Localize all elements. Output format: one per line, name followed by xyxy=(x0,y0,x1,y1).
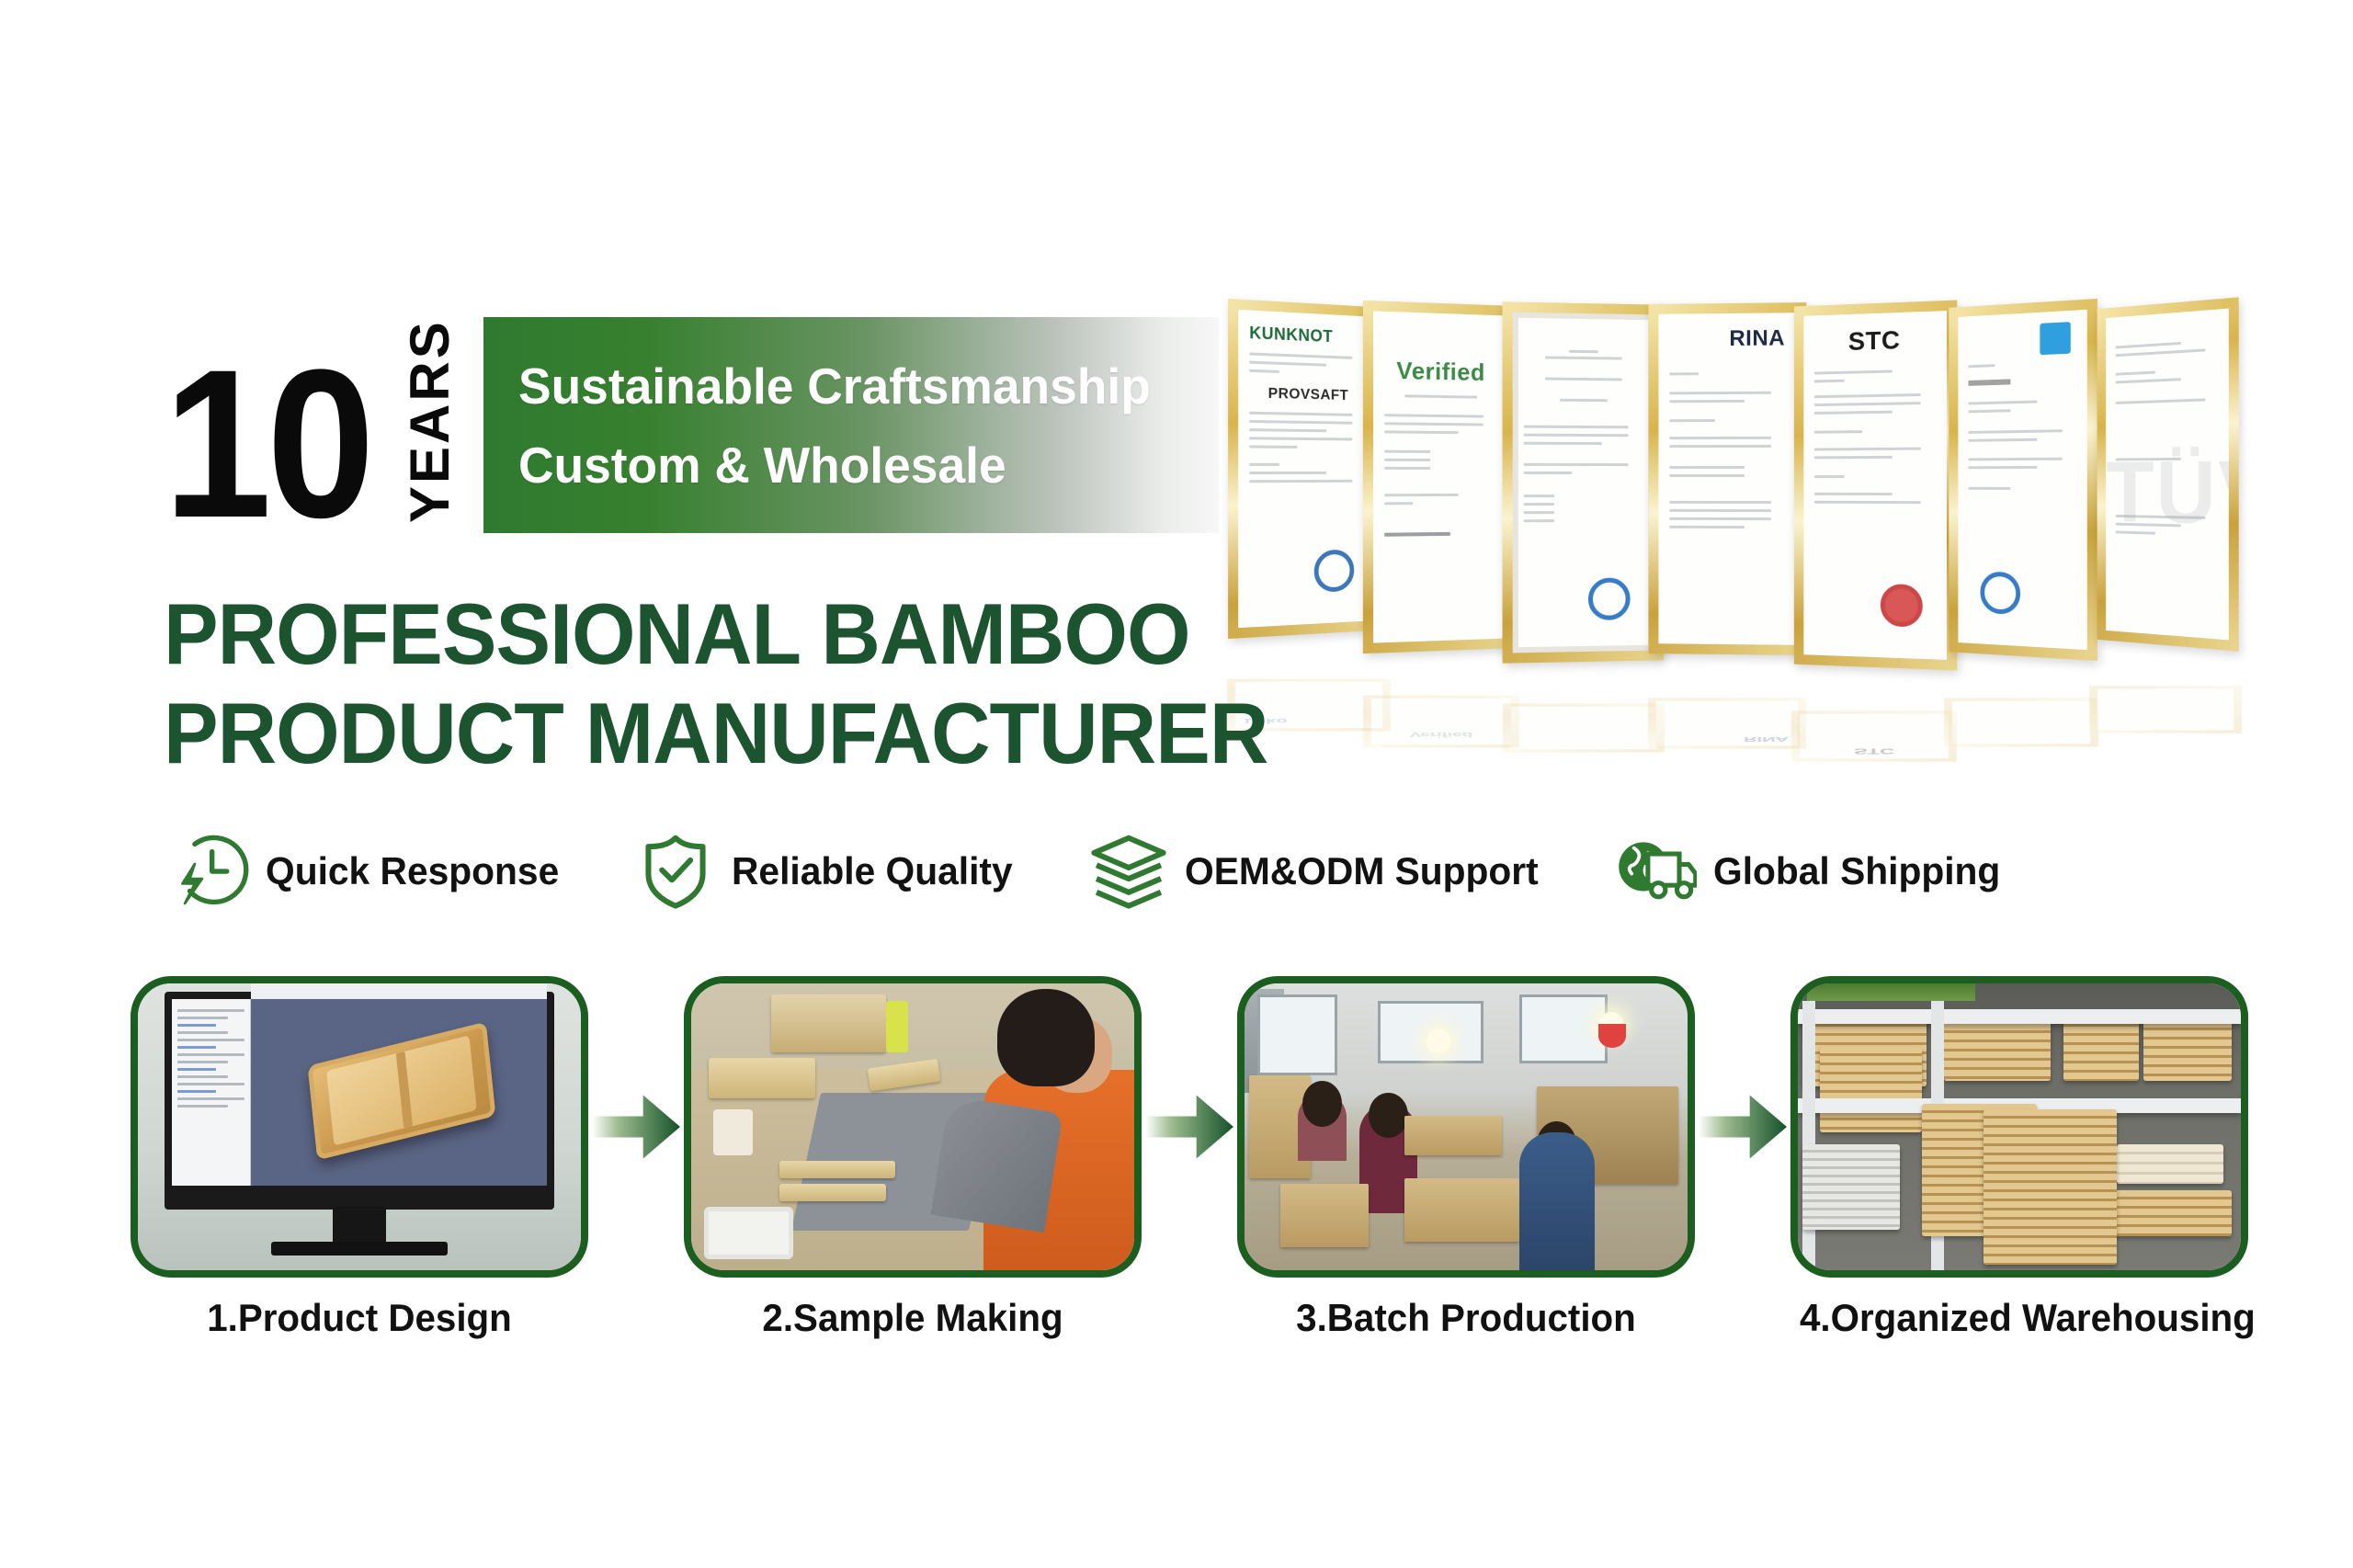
process-arrow-3 xyxy=(1695,976,1790,1278)
certificate-page xyxy=(1958,310,2086,650)
certificate-page: RINA xyxy=(1658,312,1796,645)
reliable-quality-shield-icon xyxy=(636,832,715,911)
sample-making-photo xyxy=(684,976,1142,1278)
process-arrow-2 xyxy=(1142,976,1237,1278)
batch-production-photo xyxy=(1237,976,1695,1278)
process-flow: 1.Product Design xyxy=(131,976,2235,1344)
certificate-page: Verified xyxy=(1373,311,1507,642)
certificate-page: STC xyxy=(1803,311,1947,660)
certificate-gallery: KUNKNOT PROVSAFT Verified xyxy=(1227,303,2261,744)
certificate-reflection-4: RINA xyxy=(1648,698,1806,748)
tagline-line-2: Custom & Wholesale xyxy=(518,426,1198,505)
certificate-6 xyxy=(1949,299,2097,661)
oem-odm-layers-icon xyxy=(1089,832,1168,911)
years-badge: 10 YEARS xyxy=(164,308,458,533)
headline-line-2: PRODUCT MANUFACTURER xyxy=(164,684,1267,783)
tagline-banner: Sustainable Craftsmanship Custom & Whole… xyxy=(483,317,1219,533)
step-caption: 2.Sample Making xyxy=(693,1296,1132,1340)
certificate-seal xyxy=(1314,550,1354,593)
years-number: 10 xyxy=(164,342,369,546)
certificate-watermark: TÜV xyxy=(2106,441,2229,545)
step-caption: 4.Organized Warehousing xyxy=(1800,1296,2239,1340)
headline-line-1: PROFESSIONAL BAMBOO xyxy=(164,585,1267,684)
certificate-7: TÜV xyxy=(2097,297,2239,651)
feature-reliable-quality: Reliable Quality xyxy=(636,832,1021,911)
quick-response-clock-icon xyxy=(170,832,249,911)
feature-global-shipping: Global Shipping xyxy=(1618,832,2009,911)
warehousing-photo xyxy=(1790,976,2248,1278)
certificate-5: STC xyxy=(1794,301,1957,671)
certificate-seal xyxy=(1980,572,2020,615)
years-label: YEARS xyxy=(403,314,458,528)
certificate-logo: KUNKNOT xyxy=(1249,324,1366,348)
certificate-reflection-5: STC xyxy=(1791,710,1957,761)
process-step-2: 2.Sample Making xyxy=(684,976,1142,1340)
process-step-4: 4.Organized Warehousing xyxy=(1790,976,2248,1340)
tagline-line-1: Sustainable Craftsmanship xyxy=(518,347,1198,426)
feature-label: Quick Response xyxy=(266,849,559,893)
process-step-3: 3.Batch Production xyxy=(1237,976,1695,1340)
certificate-reflection-7 xyxy=(2089,686,2242,733)
process-step-1: 1.Product Design xyxy=(131,976,588,1340)
feature-quick-response: Quick Response xyxy=(170,832,568,911)
certificate-seal xyxy=(1588,577,1631,619)
certificate-reflection-3 xyxy=(1503,703,1665,752)
reflection-label: RINA xyxy=(1656,733,1798,746)
certificate-2: Verified xyxy=(1363,301,1517,653)
certificate-seal-red xyxy=(1881,584,1923,627)
certificate-4: RINA xyxy=(1649,302,1807,655)
bamboo-manufacturer-banner: KUNKNOT PROVSAFT Verified xyxy=(0,0,2353,1568)
certificate-logo: STC xyxy=(1814,324,1936,358)
certificate-logo: RINA xyxy=(1669,325,1785,352)
certificate-subtitle: PROVSAFT xyxy=(1249,385,1366,404)
process-arrow-1 xyxy=(588,976,684,1278)
feature-oem-odm: OEM&ODM Support xyxy=(1089,832,1550,911)
feature-label: Global Shipping xyxy=(1713,849,2000,893)
certificate-reflection-2: Verified xyxy=(1363,696,1519,748)
certificate-page: TÜV xyxy=(2106,309,2229,641)
reflection-label: STC xyxy=(1800,744,1949,758)
certificate-3 xyxy=(1503,301,1664,663)
step-caption: 3.Batch Production xyxy=(1246,1296,1686,1340)
certificate-reflection-6 xyxy=(1944,698,2098,746)
certificate-page xyxy=(1513,312,1654,653)
certificate-badge-icon xyxy=(2040,322,2070,355)
global-shipping-truck-icon xyxy=(1618,832,1697,911)
feature-label: Reliable Quality xyxy=(732,849,1013,893)
step-caption: 1.Product Design xyxy=(140,1296,579,1340)
feature-label: OEM&ODM Support xyxy=(1185,849,1539,893)
certificate-logo: Verified xyxy=(1384,356,1496,387)
product-design-photo xyxy=(131,976,588,1278)
reflection-label: Verified xyxy=(1371,724,1511,744)
certificate-page: KUNKNOT PROVSAFT xyxy=(1238,310,1376,628)
page-title: PROFESSIONAL BAMBOO PRODUCT MANUFACTURER xyxy=(164,585,1267,783)
feature-list: Quick Response Reliable Quality OEM& xyxy=(170,821,2174,922)
